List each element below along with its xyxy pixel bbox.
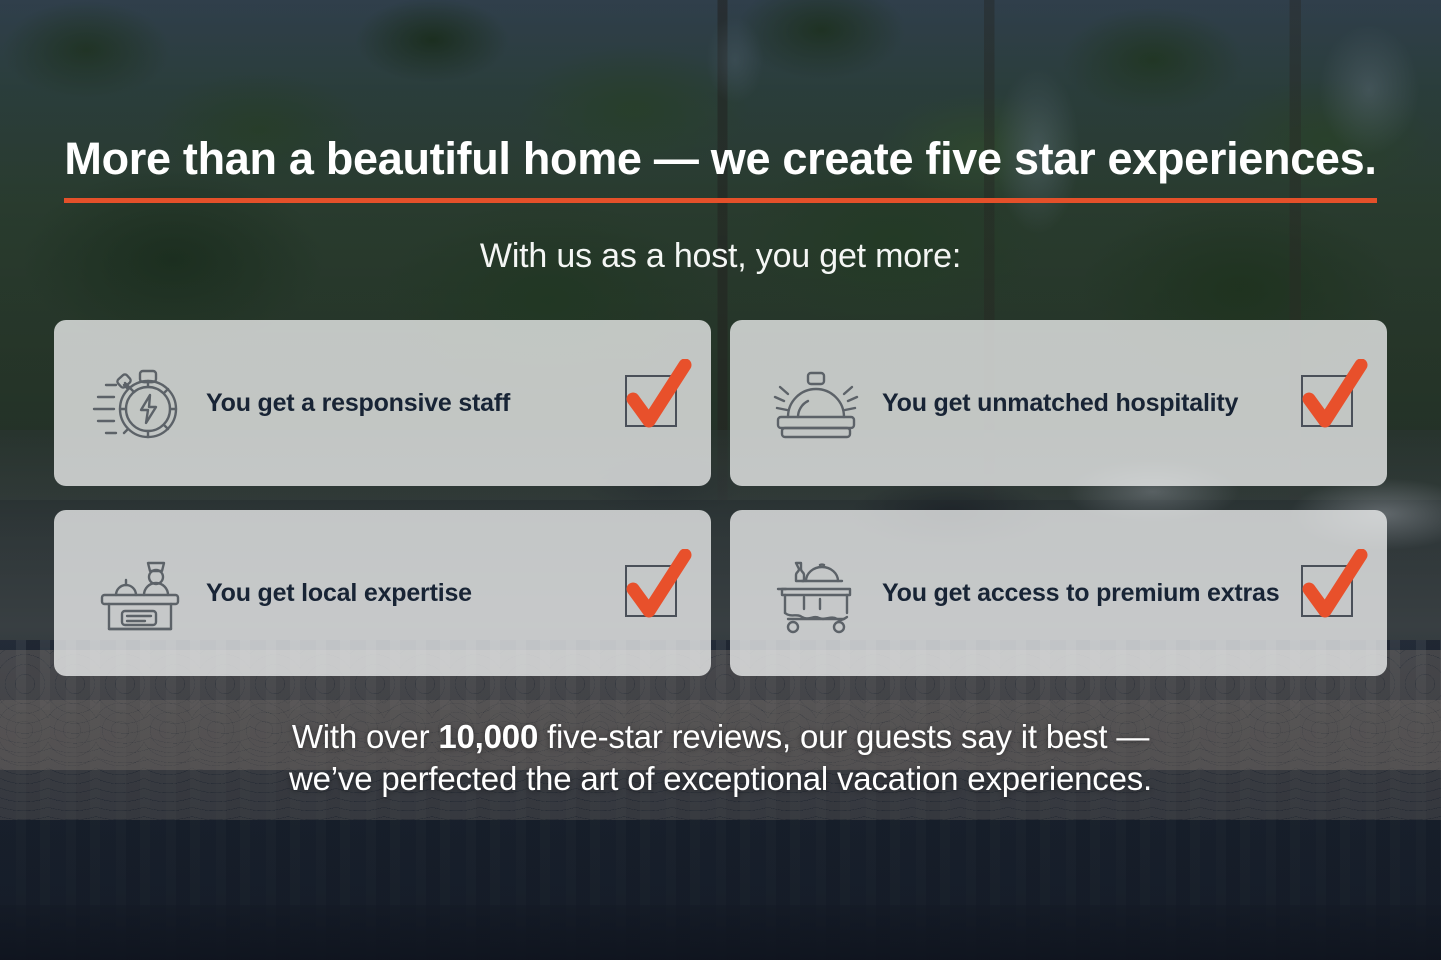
benefit-card-local-expertise[interactable]: You get local expertise — [54, 510, 711, 676]
checkmark-icon — [623, 359, 695, 437]
checkbox-responsive-staff[interactable] — [625, 375, 681, 431]
benefit-label: You get access to premium extras — [882, 579, 1301, 608]
subheadline: With us as a host, you get more: — [0, 237, 1441, 276]
benefit-label: You get a responsive staff — [206, 389, 625, 418]
checkbox-local-expertise[interactable] — [625, 565, 681, 621]
benefit-card-unmatched-hospitality[interactable]: You get unmatched hospitality — [730, 320, 1387, 486]
reviews-statement: With over 10,000 five-star reviews, our … — [0, 716, 1441, 800]
headline-container: More than a beautiful home — we create f… — [0, 134, 1441, 203]
service-bell-icon — [764, 355, 868, 451]
statement-suffix: five-star reviews, our guests say it bes… — [538, 718, 1149, 755]
review-count: 10,000 — [438, 718, 538, 755]
benefit-label: You get local expertise — [206, 579, 625, 608]
benefit-card-premium-extras[interactable]: You get access to premium extras — [730, 510, 1387, 676]
reception-desk-icon — [88, 545, 192, 641]
benefits-grid: You get a responsive staff — [54, 320, 1387, 676]
statement-prefix: With over — [292, 718, 439, 755]
checkbox-premium-extras[interactable] — [1301, 565, 1357, 621]
statement-line-two: we’ve perfected the art of exceptional v… — [0, 758, 1441, 800]
checkbox-unmatched-hospitality[interactable] — [1301, 375, 1357, 431]
checkmark-icon — [1299, 359, 1371, 437]
benefit-label: You get unmatched hospitality — [882, 389, 1301, 418]
statement-line-one: With over 10,000 five-star reviews, our … — [0, 716, 1441, 758]
page-title: More than a beautiful home — we create f… — [64, 134, 1376, 203]
marketing-hero-section: More than a beautiful home — we create f… — [0, 0, 1441, 960]
checkmark-icon — [623, 549, 695, 627]
benefit-card-responsive-staff[interactable]: You get a responsive staff — [54, 320, 711, 486]
hero-content: More than a beautiful home — we create f… — [0, 0, 1441, 960]
checkmark-icon — [1299, 549, 1371, 627]
room-service-cart-icon — [764, 545, 868, 641]
stopwatch-icon — [88, 355, 192, 451]
